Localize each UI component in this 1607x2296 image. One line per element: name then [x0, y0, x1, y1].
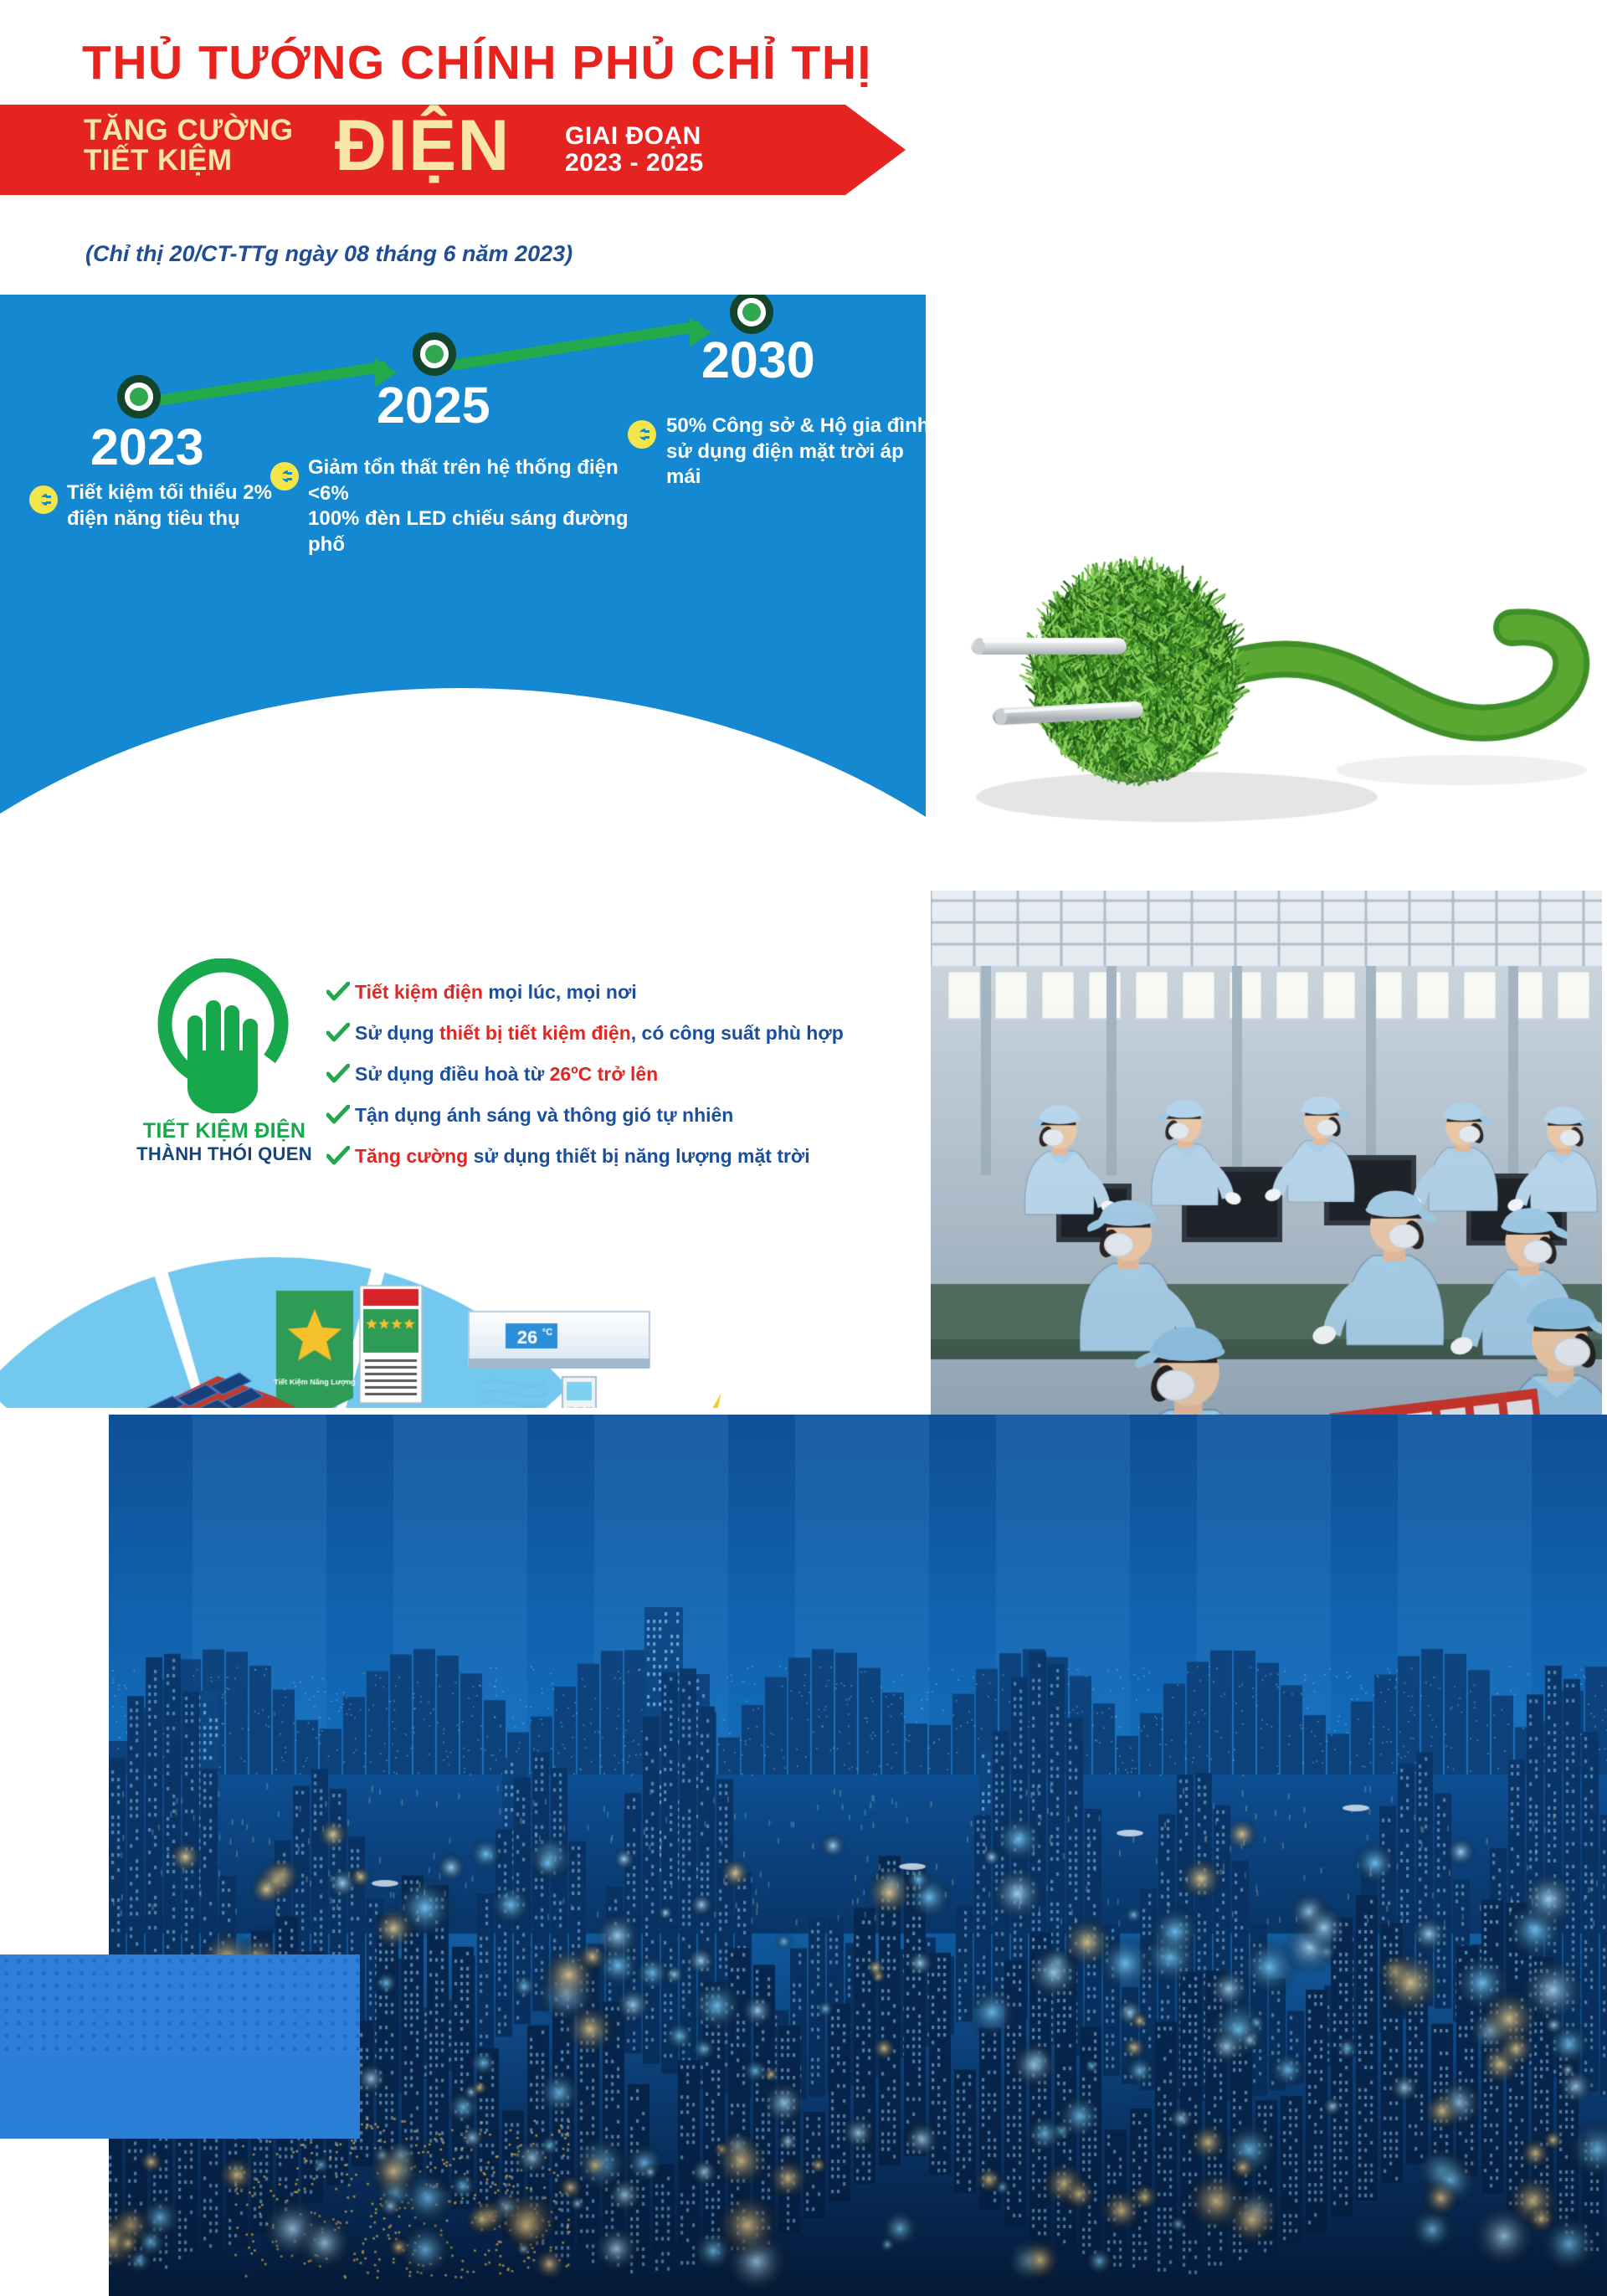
habit-caption-line2: THÀNH THÓI QUEN: [116, 1143, 333, 1165]
hand-bulb-icon: [144, 958, 303, 1109]
check-icon: [326, 1146, 355, 1170]
timeline-text-2030-line2: sử dụng điện mặt trời áp mái: [666, 439, 926, 491]
habit-caption-line1: TIẾT KIỆM ĐIỆN: [116, 1119, 333, 1143]
list-item: Sử dụng điều hoà từ 26ºC trở lên: [326, 1063, 862, 1088]
plug-glyph: [633, 425, 651, 444]
checklist-mid-3: 26ºC trở lên: [550, 1063, 659, 1085]
checklist-text-1: Tiết kiệm điện mọi lúc, mọi nơi: [355, 981, 637, 1004]
infographic-panel: 2023 2025 2030 Tiết kiệm tối thiểu 2% đi…: [0, 295, 926, 1408]
checklist-highlight-1: Tiết kiệm điện: [355, 981, 488, 1003]
timeline-segment-2: [451, 321, 701, 371]
timeline-year-2025: 2025: [377, 380, 490, 431]
checklist-rest-1: mọi lúc, mọi nơi: [488, 981, 636, 1003]
timeline-dot-2023: [117, 375, 161, 419]
timeline-text-2030-line1: 50% Công sở & Hộ gia đình: [666, 413, 926, 439]
plug-icon-2030: [628, 420, 656, 449]
decorative-blue-bar: [0, 2059, 360, 2139]
ribbon-banner: TĂNG CƯỜNG TIẾT KIỆM ĐIỆN GIAI ĐOẠN 2023…: [0, 105, 845, 195]
plug-icon-2025: [270, 462, 299, 491]
night-city-skyline-photo: [109, 1415, 1607, 2296]
plug-icon-2023: [29, 485, 58, 514]
checklist-pre-2: Sử dụng: [355, 1022, 439, 1044]
timeline-text-2025-line1: Giảm tổn thất trên hệ thống điện <6%: [308, 455, 660, 506]
list-item: Sử dụng thiết bị tiết kiệm điện, có công…: [326, 1022, 862, 1047]
timeline-text-2023-line2: điện năng tiêu thụ: [67, 506, 318, 532]
checklist-text-3: Sử dụng điều hoà từ 26ºC trở lên: [355, 1063, 658, 1086]
check-icon: [326, 1064, 355, 1088]
ribbon-period: GIAI ĐOẠN 2023 - 2025: [565, 123, 704, 176]
check-icon: [326, 1105, 355, 1129]
checklist: Tiết kiệm điện mọi lúc, mọi nơi Sử dụng …: [326, 981, 862, 1186]
period-years: 2023 - 2025: [565, 150, 704, 177]
checklist-highlight-5: Tăng cường: [355, 1145, 474, 1167]
ribbon-fade: [0, 105, 59, 195]
checklist-text-4: Tận dụng ánh sáng và thông gió tự nhiên: [355, 1104, 733, 1127]
checklist-rest-2: , có công suất phù hợp: [631, 1022, 844, 1044]
timeline-dot-2030: [730, 295, 773, 334]
ribbon-highlight-dien: ĐIỆN: [335, 110, 510, 182]
directive-subtitle: (Chỉ thị 20/CT-TTg ngày 08 tháng 6 năm 2…: [85, 241, 572, 267]
timeline-text-2030: 50% Công sở & Hộ gia đình sử dụng điện m…: [666, 413, 926, 491]
check-icon: [326, 982, 355, 1006]
period-label: GIAI ĐOẠN: [565, 123, 704, 150]
fan-illustrations: [0, 1182, 926, 1408]
ribbon-arrow: [845, 105, 906, 195]
page-title: THỦ TƯỚNG CHÍNH PHỦ CHỈ THỊ: [82, 35, 872, 90]
timeline-year-2023: 2023: [90, 422, 204, 473]
infographic-page: THỦ TƯỚNG CHÍNH PHỦ CHỈ THỊ TĂNG CƯỜNG T…: [0, 0, 1607, 2296]
plug-glyph: [34, 491, 53, 509]
ribbon-line-2: TIẾT KIỆM: [84, 146, 294, 176]
checklist-rest-5: sử dụng thiết bị năng lượng mặt trời: [474, 1145, 810, 1167]
ribbon-left-text: TĂNG CƯỜNG TIẾT KIỆM: [84, 116, 294, 175]
ribbon-line-1: TĂNG CƯỜNG: [84, 116, 294, 146]
plug-glyph: [275, 467, 294, 485]
checklist-pre-3: Sử dụng điều hoà từ: [355, 1063, 550, 1085]
green-plug-photo: [926, 469, 1607, 877]
checklist-text-5: Tăng cường sử dụng thiết bị năng lượng m…: [355, 1145, 810, 1169]
timeline-text-2025-line2: 100% đèn LED chiếu sáng đường phố: [308, 506, 660, 557]
checklist-mid-2: thiết bị tiết kiệm điện: [439, 1022, 631, 1044]
list-item: Tận dụng ánh sáng và thông gió tự nhiên: [326, 1104, 862, 1129]
timeline-dot-2025: [413, 332, 456, 376]
header: THỦ TƯỚNG CHÍNH PHỦ CHỈ THỊ TĂNG CƯỜNG T…: [0, 0, 1607, 289]
timeline-year-2030: 2030: [701, 335, 815, 386]
checklist-text-2: Sử dụng thiết bị tiết kiệm điện, có công…: [355, 1022, 844, 1045]
timeline-text-2025: Giảm tổn thất trên hệ thống điện <6% 100…: [308, 455, 660, 558]
list-item: Tăng cường sử dụng thiết bị năng lượng m…: [326, 1145, 862, 1170]
decorative-dot-grid: [0, 1954, 360, 2063]
check-icon: [326, 1023, 355, 1047]
list-item: Tiết kiệm điện mọi lúc, mọi nơi: [326, 981, 862, 1006]
timeline-segment-1: [146, 361, 388, 408]
